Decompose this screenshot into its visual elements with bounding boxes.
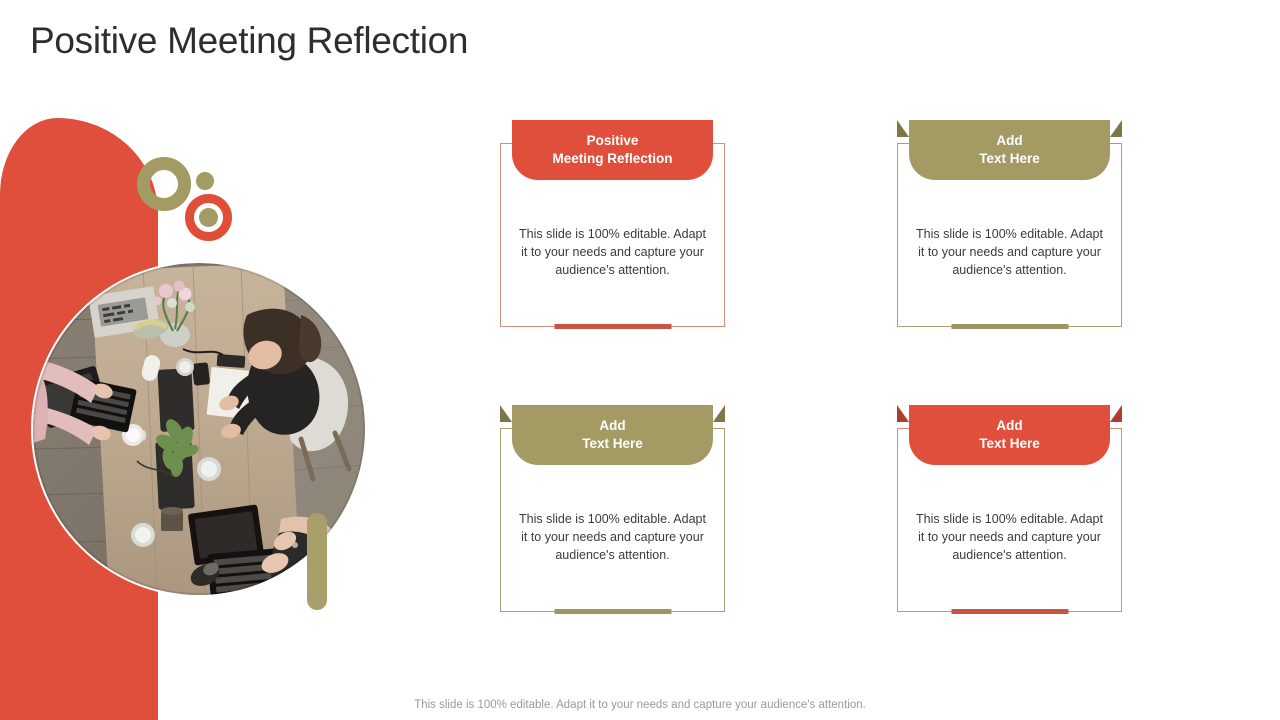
card-4-bottom-accent-bar [951, 609, 1068, 614]
olive-dot-icon [196, 172, 214, 190]
card-1-heading-line-2: Meeting Reflection [552, 150, 672, 168]
card-2-ribbon-header[interactable]: Add Text Here [909, 120, 1110, 180]
footer-note: This slide is 100% editable. Adapt it to… [0, 699, 1280, 711]
fold-right-icon [1110, 405, 1122, 422]
card-2-bottom-accent-bar [951, 324, 1068, 329]
content-card-3[interactable]: Add Text Here This slide is 100% editabl… [500, 405, 725, 612]
olive-capsule-shape [307, 513, 327, 610]
card-4-heading-line-1: Add [996, 417, 1022, 435]
card-3-ribbon-header[interactable]: Add Text Here [512, 405, 713, 465]
card-4-ribbon-header[interactable]: Add Text Here [909, 405, 1110, 465]
olive-ring-icon [137, 157, 191, 211]
content-card-2[interactable]: Add Text Here This slide is 100% editabl… [897, 120, 1122, 327]
card-3-heading-line-2: Text Here [582, 435, 643, 453]
card-4-body-text: This slide is 100% editable. Adapt it to… [913, 510, 1106, 564]
decorative-graphics-group [0, 0, 420, 720]
card-2-body-text: This slide is 100% editable. Adapt it to… [913, 225, 1106, 279]
fold-left-icon [897, 120, 909, 137]
card-1-ribbon-header[interactable]: Positive Meeting Reflection [512, 120, 713, 180]
card-4-heading-line-2: Text Here [979, 435, 1040, 453]
fold-right-icon [1110, 120, 1122, 137]
card-1-heading-line-1: Positive [587, 132, 639, 150]
card-1-body-text: This slide is 100% editable. Adapt it to… [516, 225, 709, 279]
fold-left-icon [897, 405, 909, 422]
olive-dot-inner-icon [199, 208, 218, 227]
content-card-1[interactable]: Positive Meeting Reflection This slide i… [500, 120, 725, 327]
content-card-4[interactable]: Add Text Here This slide is 100% editabl… [897, 405, 1122, 612]
card-3-body-text: This slide is 100% editable. Adapt it to… [516, 510, 709, 564]
card-3-heading-line-1: Add [599, 417, 625, 435]
card-3-bottom-accent-bar [554, 609, 671, 614]
fold-right-icon [713, 405, 725, 422]
slide-canvas: Positive Meeting Reflection [0, 0, 1280, 720]
card-1-bottom-accent-bar [554, 324, 671, 329]
card-2-heading-line-2: Text Here [979, 150, 1040, 168]
fold-left-icon [500, 405, 512, 422]
card-2-heading-line-1: Add [996, 132, 1022, 150]
